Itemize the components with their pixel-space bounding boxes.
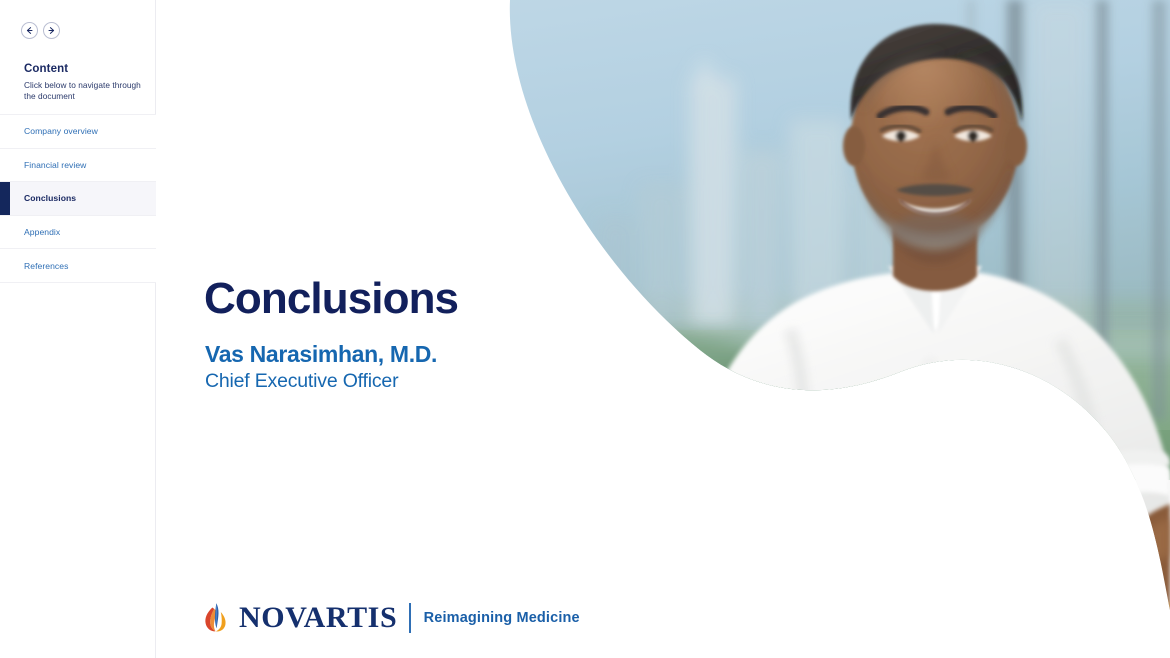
novartis-wordmark: NOVARTIS: [239, 603, 397, 633]
active-marker: [0, 216, 10, 249]
novartis-logo: NOVARTIS Reimagining Medicine: [204, 600, 580, 636]
arrow-right-button[interactable]: [43, 22, 60, 39]
content-instruction: Click below to navigate through the docu…: [24, 80, 148, 101]
sidebar-item-company-overview[interactable]: Company overview: [0, 115, 156, 149]
sidebar-item-appendix[interactable]: Appendix: [0, 216, 156, 250]
sidebar-item-label: Financial review: [24, 160, 86, 170]
active-marker: [0, 115, 10, 148]
novartis-tagline: Reimagining Medicine: [424, 610, 580, 626]
sidebar-item-label: References: [24, 261, 68, 271]
sidebar-item-label: Appendix: [24, 227, 60, 237]
novartis-flame-icon: [204, 602, 229, 635]
sidebar-item-label: Conclusions: [24, 193, 76, 203]
document-section-list: Company overview Financial review Conclu…: [0, 114, 156, 283]
sidebar-item-references[interactable]: References: [0, 249, 156, 283]
content-header: Content Click below to navigate through …: [24, 62, 148, 101]
active-marker: [0, 149, 10, 182]
sidebar-item-financial-review[interactable]: Financial review: [0, 149, 156, 183]
presenter-name: Vas Narasimhan, M.D.: [205, 341, 437, 368]
arrow-left-button[interactable]: [21, 22, 38, 39]
sidebar: Content Click below to navigate through …: [0, 0, 156, 658]
slide-content: Conclusions Vas Narasimhan, M.D. Chief E…: [156, 0, 1170, 658]
arrow-left-icon: [25, 26, 34, 35]
active-marker: [0, 249, 10, 282]
arrow-right-icon: [47, 26, 56, 35]
sidebar-nav-arrows: [21, 22, 60, 39]
active-marker: [0, 182, 10, 215]
presenter-role: Chief Executive Officer: [205, 369, 398, 393]
slide-root: Content Click below to navigate through …: [0, 0, 1170, 658]
logo-divider: [409, 603, 410, 633]
content-heading: Content: [24, 62, 148, 77]
sidebar-item-conclusions[interactable]: Conclusions: [0, 182, 156, 216]
page-title: Conclusions: [204, 274, 458, 324]
sidebar-item-label: Company overview: [24, 126, 98, 136]
